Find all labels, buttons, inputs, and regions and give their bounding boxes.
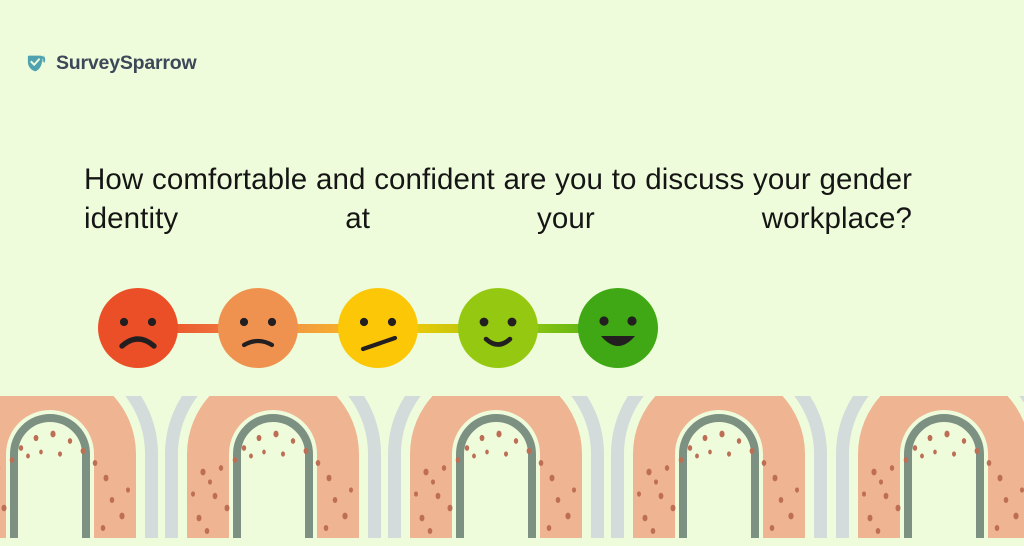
brand-wordmark: SurveySparrow <box>56 54 196 74</box>
brand-logo[interactable]: SurveySparrow <box>25 52 196 75</box>
rating-option-3[interactable] <box>338 288 418 368</box>
slide-canvas: SurveySparrow How comfortable and confid… <box>0 0 1024 546</box>
smiley-rating-scale[interactable] <box>98 288 678 370</box>
rating-option-1[interactable] <box>98 288 178 368</box>
question-text: How comfortable and confident are you to… <box>84 160 912 278</box>
rating-option-2[interactable] <box>218 288 298 368</box>
speckled-arches-decoration <box>0 396 1024 546</box>
rating-option-5[interactable] <box>578 288 658 368</box>
sparrow-shield-check-icon <box>25 52 48 75</box>
rating-option-4[interactable] <box>458 288 538 368</box>
